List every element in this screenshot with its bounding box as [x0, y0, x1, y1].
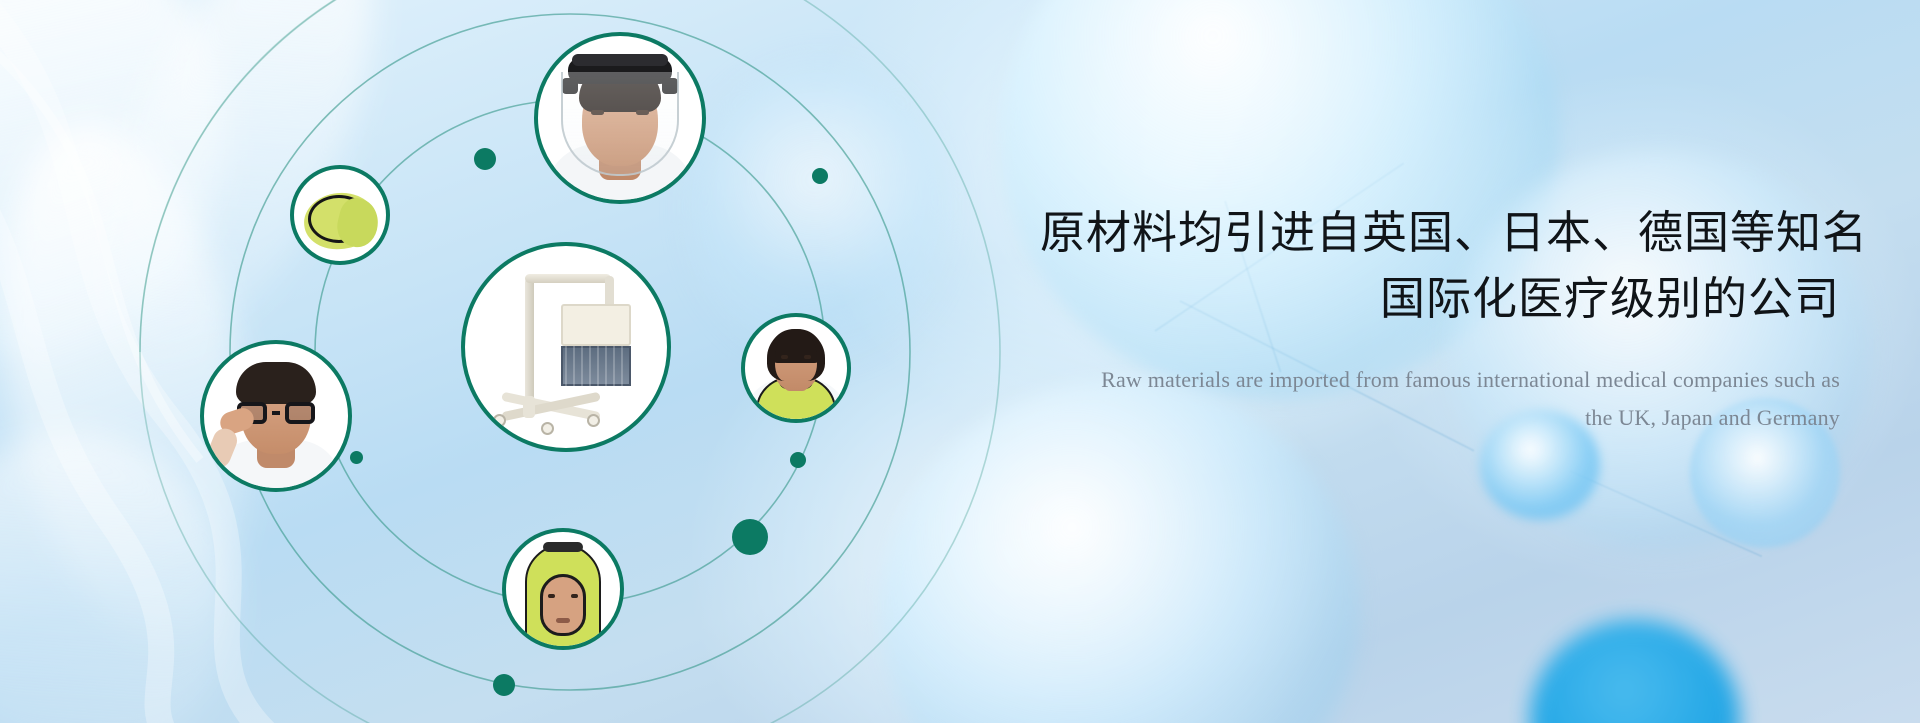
orbit-dot — [732, 519, 768, 555]
subtitle-line-1: Raw materials are imported from famous i… — [1040, 361, 1840, 399]
orbit-dot — [493, 674, 515, 696]
node-face-shield-portrait[interactable] — [534, 32, 706, 204]
hood-artwork — [506, 532, 620, 646]
node-mobile-xray-barrier[interactable] — [461, 242, 671, 452]
lead-glasses-artwork — [204, 344, 348, 488]
cape-artwork — [745, 317, 847, 419]
orbit-dot — [790, 452, 806, 468]
banner-copy: 原材料均引进自英国、日本、德国等知名 国际化医疗级别的公司 Raw materi… — [1040, 205, 1840, 437]
headline-line-1: 原材料均引进自英国、日本、德国等知名 — [1040, 205, 1840, 261]
orbit-dot — [474, 148, 496, 170]
orbit-dot — [350, 451, 363, 464]
node-cape-portrait[interactable] — [741, 313, 851, 423]
face-shield-artwork — [538, 36, 702, 200]
node-lead-glasses-portrait[interactable] — [200, 340, 352, 492]
subtitle: Raw materials are imported from famous i… — [1040, 361, 1840, 437]
hero-banner: 原材料均引进自英国、日本、德国等知名 国际化医疗级别的公司 Raw materi… — [0, 0, 1920, 723]
headline-line-2: 国际化医疗级别的公司 — [1040, 271, 1840, 327]
thyroid-collar-artwork — [294, 169, 386, 261]
xray-barrier-artwork — [465, 246, 667, 448]
node-hood-portrait[interactable] — [502, 528, 624, 650]
subtitle-line-2: the UK, Japan and Germany — [1040, 399, 1840, 437]
orbit-dot — [812, 168, 828, 184]
node-thyroid-collar-product[interactable] — [290, 165, 390, 265]
